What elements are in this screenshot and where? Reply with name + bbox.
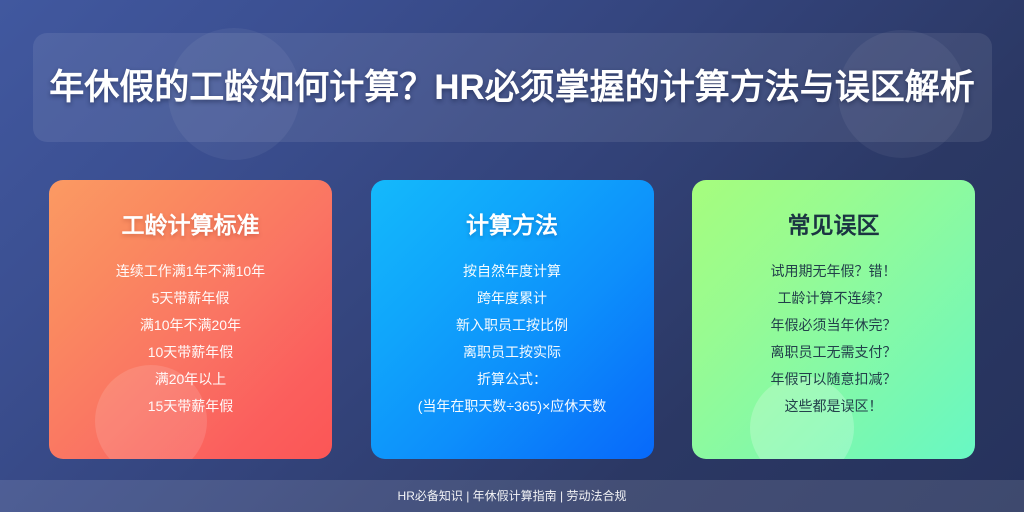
card-line: 15天带薪年假 bbox=[49, 393, 332, 420]
card-line: 试用期无年假？错！ bbox=[692, 258, 975, 285]
card-line: 10天带薪年假 bbox=[49, 339, 332, 366]
card-line: 满10年不满20年 bbox=[49, 312, 332, 339]
card-line: 连续工作满1年不满10年 bbox=[49, 258, 332, 285]
card-title: 计算方法 bbox=[371, 210, 654, 240]
card-line: 满20年以上 bbox=[49, 366, 332, 393]
card-line: 5天带薪年假 bbox=[49, 285, 332, 312]
footer-bar: HR必备知识 | 年休假计算指南 | 劳动法合规 bbox=[0, 480, 1024, 512]
card-line-list: 试用期无年假？错！ 工龄计算不连续？ 年假必须当年休完？ 离职员工无需支付？ 年… bbox=[692, 258, 975, 420]
card-line: 折算公式： bbox=[371, 366, 654, 393]
page-title: 年休假的工龄如何计算？HR必须掌握的计算方法与误区解析 bbox=[0, 33, 1024, 142]
card-line-formula: (当年在职天数÷365)×应休天数 bbox=[371, 393, 654, 420]
card-line: 跨年度累计 bbox=[371, 285, 654, 312]
card-line-list: 连续工作满1年不满10年 5天带薪年假 满10年不满20年 10天带薪年假 满2… bbox=[49, 258, 332, 420]
card-line: 这些都是误区！ bbox=[692, 393, 975, 420]
card-line: 年假可以随意扣减？ bbox=[692, 366, 975, 393]
card-line: 年假必须当年休完？ bbox=[692, 312, 975, 339]
card-row: 工龄计算标准 连续工作满1年不满10年 5天带薪年假 满10年不满20年 10天… bbox=[49, 180, 975, 459]
card-line: 离职员工按实际 bbox=[371, 339, 654, 366]
card-line: 离职员工无需支付？ bbox=[692, 339, 975, 366]
card-title: 工龄计算标准 bbox=[49, 210, 332, 240]
card-calculation-method[interactable]: 计算方法 按自然年度计算 跨年度累计 新入职员工按比例 离职员工按实际 折算公式… bbox=[371, 180, 654, 459]
card-title: 常见误区 bbox=[692, 210, 975, 240]
card-line: 新入职员工按比例 bbox=[371, 312, 654, 339]
card-service-years-standard[interactable]: 工龄计算标准 连续工作满1年不满10年 5天带薪年假 满10年不满20年 10天… bbox=[49, 180, 332, 459]
card-line-list: 按自然年度计算 跨年度累计 新入职员工按比例 离职员工按实际 折算公式： (当年… bbox=[371, 258, 654, 420]
card-common-misconceptions[interactable]: 常见误区 试用期无年假？错！ 工龄计算不连续？ 年假必须当年休完？ 离职员工无需… bbox=[692, 180, 975, 459]
card-line: 按自然年度计算 bbox=[371, 258, 654, 285]
card-line: 工龄计算不连续？ bbox=[692, 285, 975, 312]
infographic-canvas: 年休假的工龄如何计算？HR必须掌握的计算方法与误区解析 工龄计算标准 连续工作满… bbox=[0, 0, 1024, 512]
footer-text: HR必备知识 | 年休假计算指南 | 劳动法合规 bbox=[0, 480, 1024, 512]
